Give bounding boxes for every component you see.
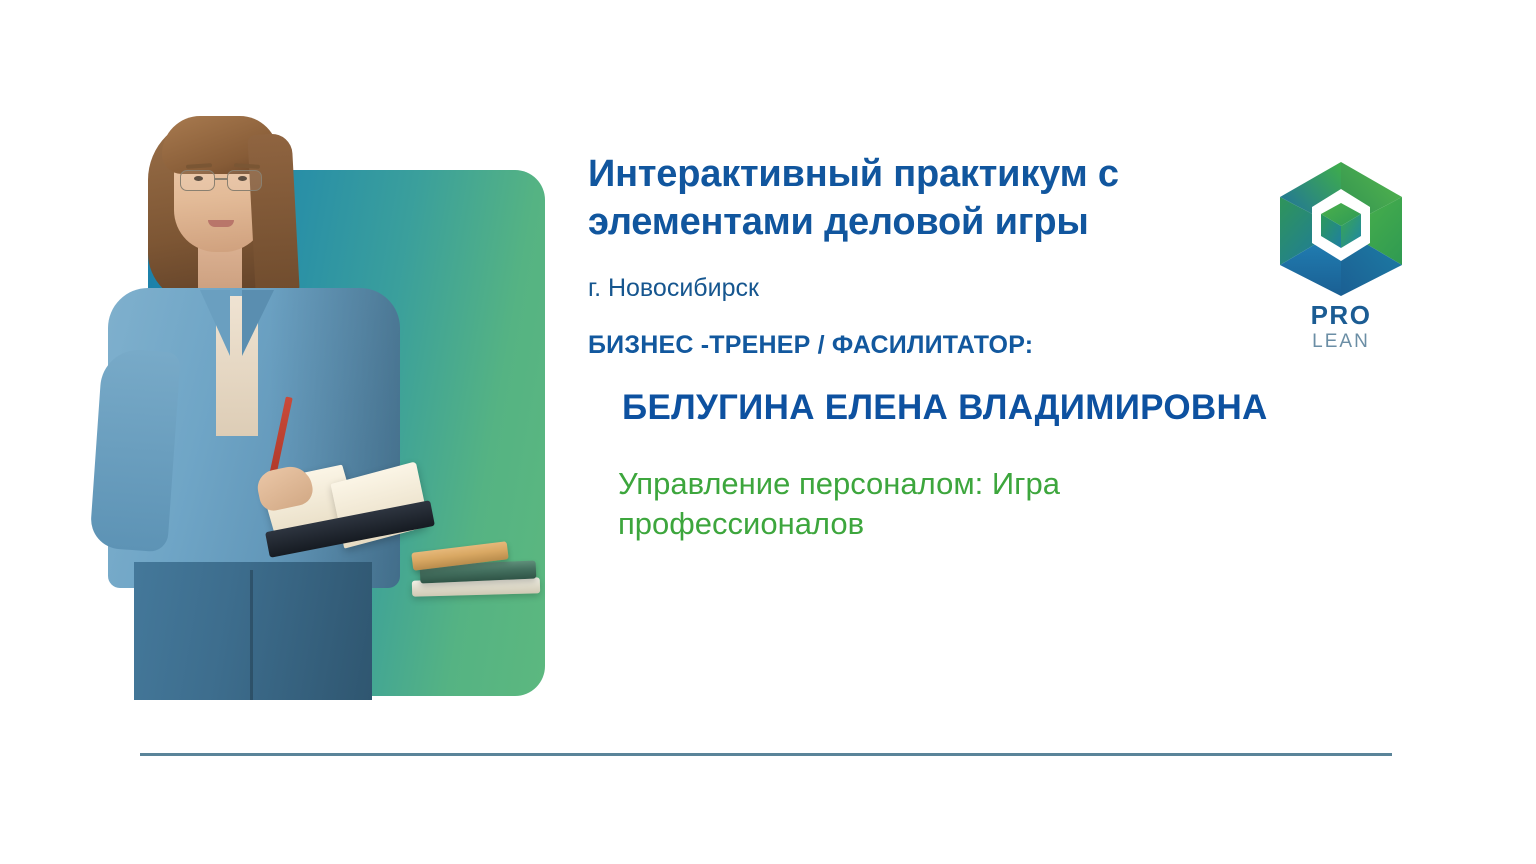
prolean-logo: PRO LEAN — [1268, 158, 1414, 358]
slide-text-column: Интерактивный практикум с элементами дел… — [588, 150, 1288, 545]
presenter-visual-block — [90, 100, 560, 710]
glasses-lens-left — [180, 170, 215, 191]
city-label: г. Новосибирск — [588, 273, 1288, 303]
footer-divider — [140, 753, 1392, 756]
glasses-bridge — [214, 178, 228, 180]
arm-left — [89, 348, 181, 553]
glasses-lens-right — [227, 170, 262, 191]
glasses-icon — [178, 170, 264, 190]
hexagon-cube-icon — [1276, 158, 1406, 300]
page-title: Интерактивный практикум с элементами дел… — [588, 150, 1248, 247]
trainer-name: БЕЛУГИНА ЕЛЕНА ВЛАДИМИРОВНА — [622, 386, 1288, 430]
trousers — [134, 562, 372, 700]
logo-word-pro: PRO — [1268, 302, 1414, 328]
presentation-slide: Интерактивный практикум с элементами дел… — [0, 0, 1536, 864]
role-label: БИЗНЕС -ТРЕНЕР / ФАСИЛИТАТОР: — [588, 331, 1288, 360]
mouth — [208, 220, 234, 227]
presenter-photo — [90, 100, 420, 700]
trouser-seam — [250, 570, 253, 700]
program-title: Управление персоналом: Игра профессионал… — [618, 464, 1288, 545]
hair-right — [247, 133, 300, 311]
book-stack-illustration — [406, 535, 541, 605]
logo-word-lean: LEAN — [1268, 332, 1414, 351]
